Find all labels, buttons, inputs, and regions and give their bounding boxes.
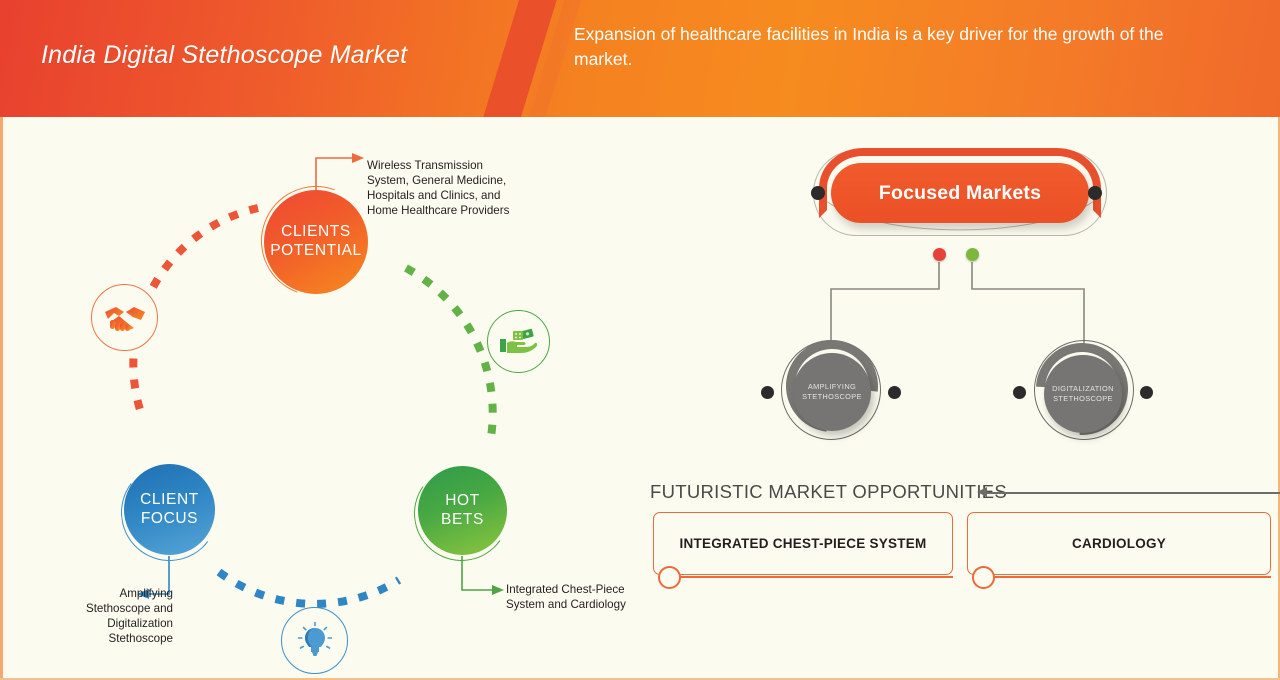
leader-arrow-hot-bets bbox=[492, 585, 504, 595]
opportunity-box-1-tail bbox=[680, 576, 953, 578]
section-title-futuristic-opportunities: FUTURISTIC MARKET OPPORTUNITIES bbox=[650, 481, 1007, 503]
focused-markets-dot-left bbox=[811, 186, 825, 200]
connector-left-bracket bbox=[831, 262, 939, 345]
frame-border-left bbox=[0, 117, 3, 680]
infographic-page: India Digital Stethoscope Market Expansi… bbox=[0, 0, 1280, 680]
lightbulb-icon-circle bbox=[281, 607, 348, 674]
callout-client-focus: Amplifying Stethoscope and Digitalizatio… bbox=[60, 586, 173, 646]
callout-hot-bets: Integrated Chest-Piece System and Cardio… bbox=[506, 582, 636, 612]
node-amplifying-stethoscope[interactable]: AMPLIFYING STETHOSCOPE bbox=[793, 353, 871, 431]
digitalization-label-line1: DIGITALIZATION bbox=[1052, 384, 1114, 393]
focused-markets-dot-right bbox=[1088, 186, 1102, 200]
handshake-icon-circle bbox=[91, 284, 158, 351]
dotted-arc-green bbox=[406, 268, 493, 437]
node-label-line2: BETS bbox=[441, 511, 484, 530]
dotted-arc-blue bbox=[219, 572, 399, 604]
focused-markets-button[interactable]: Focused Markets bbox=[831, 163, 1089, 223]
digitalization-dot-right bbox=[1140, 386, 1153, 399]
opportunity-box-2-circle bbox=[972, 566, 995, 589]
node-hot-bets[interactable]: HOT BETS bbox=[418, 466, 507, 555]
opportunity-box-1-circle bbox=[658, 566, 681, 589]
opportunity-box-integrated-chest-piece[interactable]: INTEGRATED CHEST-PIECE SYSTEM bbox=[653, 512, 953, 575]
node-label-line1: CLIENT bbox=[140, 491, 199, 510]
node-label-line2: POTENTIAL bbox=[270, 242, 362, 261]
lightbulb-icon bbox=[295, 621, 335, 661]
connector-right-bracket bbox=[972, 262, 1084, 345]
amplifying-dot-left bbox=[761, 386, 774, 399]
red-indicator-dot bbox=[933, 248, 946, 261]
money-hand-icon bbox=[499, 327, 539, 357]
opportunity-box-2-tail bbox=[994, 576, 1271, 578]
node-clients-potential[interactable]: CLIENTS POTENTIAL bbox=[264, 190, 368, 294]
callout-clients-potential: Wireless Transmission System, General Me… bbox=[367, 158, 527, 218]
handshake-icon bbox=[103, 303, 147, 333]
opportunities-arrow-line bbox=[986, 492, 1280, 494]
leader-line-hot-bets bbox=[462, 556, 492, 590]
header-subtitle: Expansion of healthcare facilities in In… bbox=[574, 22, 1214, 73]
money-hand-icon-circle bbox=[487, 310, 550, 373]
node-label-line2: FOCUS bbox=[140, 510, 199, 529]
node-label-line1: CLIENTS bbox=[270, 223, 362, 242]
node-label-line1: HOT bbox=[441, 492, 484, 511]
leader-arrow-clients bbox=[352, 153, 364, 163]
amplifying-dot-right bbox=[888, 386, 901, 399]
amplifying-label-line1: AMPLIFYING bbox=[808, 382, 856, 391]
digitalization-dot-left bbox=[1013, 386, 1026, 399]
node-client-focus[interactable]: CLIENT FOCUS bbox=[124, 464, 215, 555]
node-digitalization-stethoscope[interactable]: DIGITALIZATION STETHOSCOPE bbox=[1044, 355, 1122, 433]
page-header: India Digital Stethoscope Market Expansi… bbox=[0, 0, 1280, 117]
digitalization-label-line2: STETHOSCOPE bbox=[1053, 394, 1113, 403]
opportunities-arrow-head bbox=[977, 487, 987, 497]
opportunity-box-cardiology[interactable]: CARDIOLOGY bbox=[967, 512, 1271, 575]
page-title: India Digital Stethoscope Market bbox=[41, 41, 407, 70]
green-indicator-dot bbox=[966, 248, 979, 261]
amplifying-label-line2: STETHOSCOPE bbox=[802, 392, 862, 401]
